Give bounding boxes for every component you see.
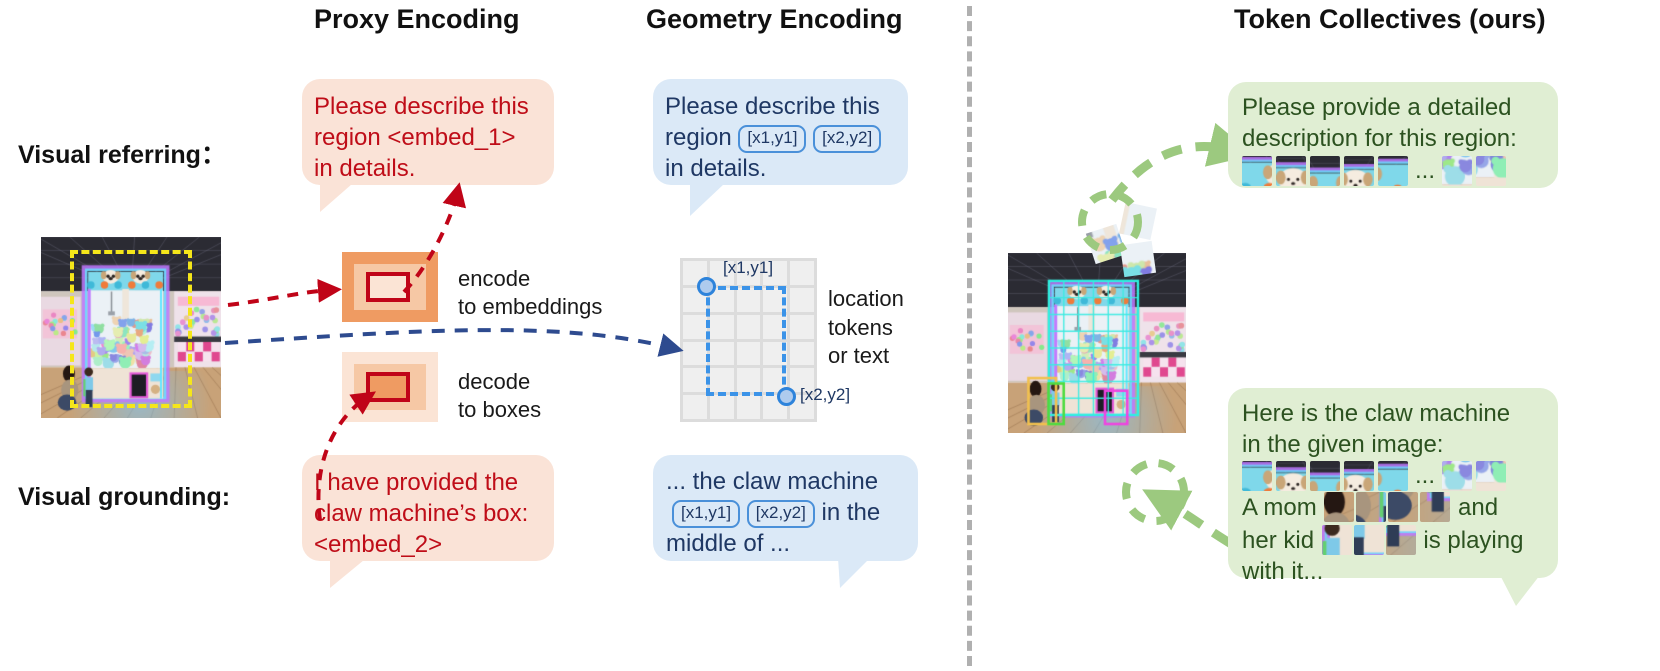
ours-referring-line2: description for this region: [1242,123,1558,154]
token-patch [1242,461,1272,491]
grid-cell [683,395,707,419]
bbox-handle-top-left[interactable] [697,277,716,296]
arrow-image-to-grid [225,330,672,348]
ours-grounding-line1: Here is the claw machine [1242,398,1558,429]
grid-cell [790,261,814,285]
yellow-dashed-region-box [70,250,192,408]
token-patch [1442,461,1472,491]
location-token-x1y1: [x1,y1] [738,125,806,153]
geometry-grounding-line1: ... the claw machine [666,466,918,497]
grid-cell [737,395,761,419]
token-patch [1420,492,1450,522]
proxy-embed-token-2: <embed_2> [314,529,554,560]
ours-grounding-line4-b: is playing [1423,527,1523,554]
ours-referring-token-strip: ... [1242,156,1558,186]
bbox-handle-bottom-right[interactable] [777,387,796,406]
geometry-grounding-line2-post: in the [815,499,880,526]
geometry-referring-line3: in details. [665,153,908,184]
grid-cell [683,368,707,392]
column-title-proxy: Proxy Encoding [314,4,520,35]
geometry-side-label-l3: or text [828,342,904,371]
grid-cell [683,315,707,339]
proxy-embed-token-1: <embed_1> [387,124,515,151]
proxy-encode-icon [342,252,438,322]
token-patch [1476,156,1506,186]
token-patch [1276,461,1306,491]
row-label-visual-grounding: Visual grounding: [18,483,230,512]
geometry-side-label: location tokens or text [828,285,904,371]
grid-cell [683,342,707,366]
grid-coord-label-bottom-right: [x2,y2] [800,385,850,405]
token-patch [1344,156,1374,186]
token-patch [1442,156,1472,186]
ours-grounding-line3-a: A mom [1242,494,1317,521]
token-patch [1354,525,1384,555]
proxy-decode-label-l2: to boxes [458,396,541,424]
ours-source-image-with-token-grid [1008,253,1186,433]
token-patch [1378,461,1408,491]
proxy-referring-line2-pre: region [314,124,387,151]
proxy-decode-icon [342,352,438,422]
grid-bounding-box [706,286,786,396]
arrow-image-to-encode [228,290,330,305]
ours-grounding-line4: her kid is playing [1242,525,1558,556]
proxy-decode-label: decode to boxes [458,368,541,423]
grid-cell [710,395,734,419]
arrow-image-to-referring-bubble [1112,147,1232,200]
token-patch [1276,156,1306,186]
floating-token-patch-2 [1119,202,1157,240]
grid-cell [790,315,814,339]
proxy-grounding-line2: claw machine’s box: [314,498,554,529]
proxy-encode-label-l1: encode [458,265,602,293]
proxy-referring-bubble: Please describe this region <embed_1> in… [302,79,554,185]
location-token-x2y2: [x2,y2] [813,125,881,153]
proxy-decode-label-l1: decode [458,368,541,396]
token-patch [1242,156,1272,186]
proxy-referring-line3: in details. [314,153,554,184]
token-patch [1388,492,1418,522]
ours-grounding-ellipsis: ... [1412,464,1438,488]
column-title-ours: Token Collectives (ours) [1234,4,1546,35]
green-loop-bottom [1126,463,1184,521]
row-label-visual-referring: Visual referring： [18,135,226,171]
ours-grounding-token-strip: ... [1242,461,1558,491]
panel-divider [967,6,972,666]
geometry-referring-line2-pre: region [665,124,738,151]
ours-grounding-line3: A mom and [1242,492,1558,523]
ours-referring-line1: Please provide a detailed [1242,92,1558,123]
floating-token-patch-3 [1120,241,1156,277]
ours-grounding-line4-a: her kid [1242,527,1314,554]
token-patch [1386,525,1416,555]
proxy-referring-line1: Please describe this [314,91,554,122]
geometry-grounding-bubble: ... the claw machine [x1,y1] [x2,y2] in … [653,455,918,561]
proxy-grounding-bubble: I have provided the claw machine’s box: … [302,455,554,561]
geometry-side-label-l1: location [828,285,904,314]
token-patch [1310,156,1340,186]
grid-cell [790,342,814,366]
geometry-referring-line1: Please describe this [665,91,908,122]
geometry-side-label-l2: tokens [828,314,904,343]
column-title-geometry: Geometry Encoding [646,4,903,35]
token-patch [1344,461,1374,491]
token-patch [1476,461,1506,491]
token-patch [1310,461,1340,491]
grid-coord-label-top-left: [x1,y1] [723,258,773,278]
token-patch [1324,492,1354,522]
grounding-location-token-x2y2: [x2,y2] [747,500,815,528]
token-patch [1378,156,1408,186]
ours-referring-ellipsis: ... [1412,159,1438,183]
proxy-encode-icon-core [366,272,410,302]
ours-referring-bubble: Please provide a detailed description fo… [1228,82,1558,188]
grid-cell [790,288,814,312]
grounding-location-token-x1y1: [x1,y1] [672,500,740,528]
ours-grounding-line2: in the given image: [1242,429,1558,460]
proxy-encode-label: encode to embeddings [458,265,602,320]
geometry-grounding-line3: middle of ... [666,528,918,559]
ours-grounding-line5: with it... [1242,556,1558,587]
token-patch [1356,492,1386,522]
proxy-grounding-line1: I have provided the [314,467,554,498]
ours-grounding-bubble: Here is the claw machine in the given im… [1228,388,1558,578]
geometry-referring-bubble: Please describe this region [x1,y1] [x2,… [653,79,908,185]
proxy-encode-label-l2: to embeddings [458,293,602,321]
token-patch [1322,525,1352,555]
proxy-decode-icon-core [366,372,410,402]
ours-grounding-line3-b: and [1458,494,1498,521]
